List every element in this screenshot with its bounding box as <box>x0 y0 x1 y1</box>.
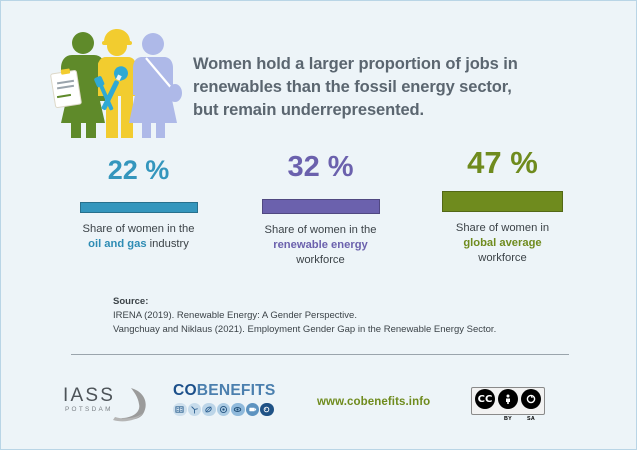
stat-caption-highlight: global average <box>463 237 541 249</box>
stat-caption: Share of women in the renewable energy w… <box>243 223 398 268</box>
stat-card-oil-and-gas: 22 % Share of women in the oil and gas i… <box>61 143 216 252</box>
book-icon <box>173 403 187 417</box>
stat-value: 32 % <box>243 143 398 182</box>
clipboard-icon <box>51 68 82 107</box>
stats-row: 22 % Share of women in the oil and gas i… <box>1 143 637 278</box>
page-title: Women hold a larger proportion of jobs i… <box>193 53 529 121</box>
stat-caption-tail: workforce <box>478 252 527 264</box>
cc-sa-icon: SA <box>521 388 541 414</box>
stat-caption-suffix: industry <box>147 238 189 250</box>
stat-value: 22 % <box>61 143 216 184</box>
cobenefits-wordmark: COBENEFITS <box>173 383 291 399</box>
cc-by-icon: BY <box>498 388 518 414</box>
footer-divider <box>71 354 569 355</box>
stat-bar <box>442 191 563 212</box>
stat-caption-highlight: renewable energy <box>273 239 368 251</box>
three-workers-illustration <box>49 27 184 139</box>
leaf-icon <box>202 403 216 417</box>
cc-by-label: BY <box>498 416 518 422</box>
creative-commons-badge[interactable]: CC BY SA <box>471 387 545 415</box>
battery-icon <box>246 403 260 417</box>
source-line-vangchuay: Vangchuay and Niklaus (2021). Employment… <box>113 323 553 337</box>
website-url[interactable]: www.cobenefits.info <box>317 396 430 408</box>
stat-value: 47 % <box>425 143 580 178</box>
source-label: Source: <box>113 295 553 309</box>
eye-icon <box>231 403 245 417</box>
figure-woman-blue <box>129 33 182 138</box>
cc-sa-label: SA <box>521 416 541 422</box>
stat-bar <box>262 199 380 214</box>
cc-sa-glyph <box>521 389 541 409</box>
stat-card-renewable-energy: 32 % Share of women in the renewable ene… <box>243 143 398 268</box>
stat-bar <box>80 202 198 213</box>
stat-caption-tail: workforce <box>296 254 345 266</box>
cc-mark: CC <box>475 389 495 409</box>
wind-turbine-icon <box>188 403 202 417</box>
cobenefits-logo[interactable]: COBENEFITS <box>173 383 291 423</box>
cobenefits-word-benefits: BENEFITS <box>197 382 276 399</box>
stat-caption: Share of women in the oil and gas indust… <box>61 222 216 252</box>
plug-icon <box>260 403 274 417</box>
stat-caption-highlight: oil and gas <box>88 238 146 250</box>
cc-by-glyph <box>498 389 518 409</box>
stat-caption: Share of women in global average workfor… <box>425 221 580 266</box>
cc-logo-icon: CC <box>475 388 495 414</box>
stat-caption-prefix: Share of women in the <box>83 223 195 235</box>
cobenefits-word-co: CO <box>173 382 197 399</box>
stat-caption-prefix: Share of women in <box>456 222 549 234</box>
target-icon <box>217 403 231 417</box>
stat-card-global-average: 47 % Share of women in global average wo… <box>425 143 580 266</box>
stat-caption-prefix: Share of women in the <box>265 224 377 236</box>
source-block: Source: IRENA (2019). Renewable Energy: … <box>113 295 553 337</box>
cobenefits-icon-row <box>173 403 291 417</box>
source-line-irena: IRENA (2019). Renewable Energy: A Gender… <box>113 309 553 323</box>
iass-logo[interactable]: IASS POTSDAM <box>63 384 167 422</box>
iass-swoosh-icon <box>63 384 167 422</box>
infographic-canvas: Women hold a larger proportion of jobs i… <box>0 0 637 450</box>
footer: IASS POTSDAM COBENEFITS <box>1 379 637 427</box>
